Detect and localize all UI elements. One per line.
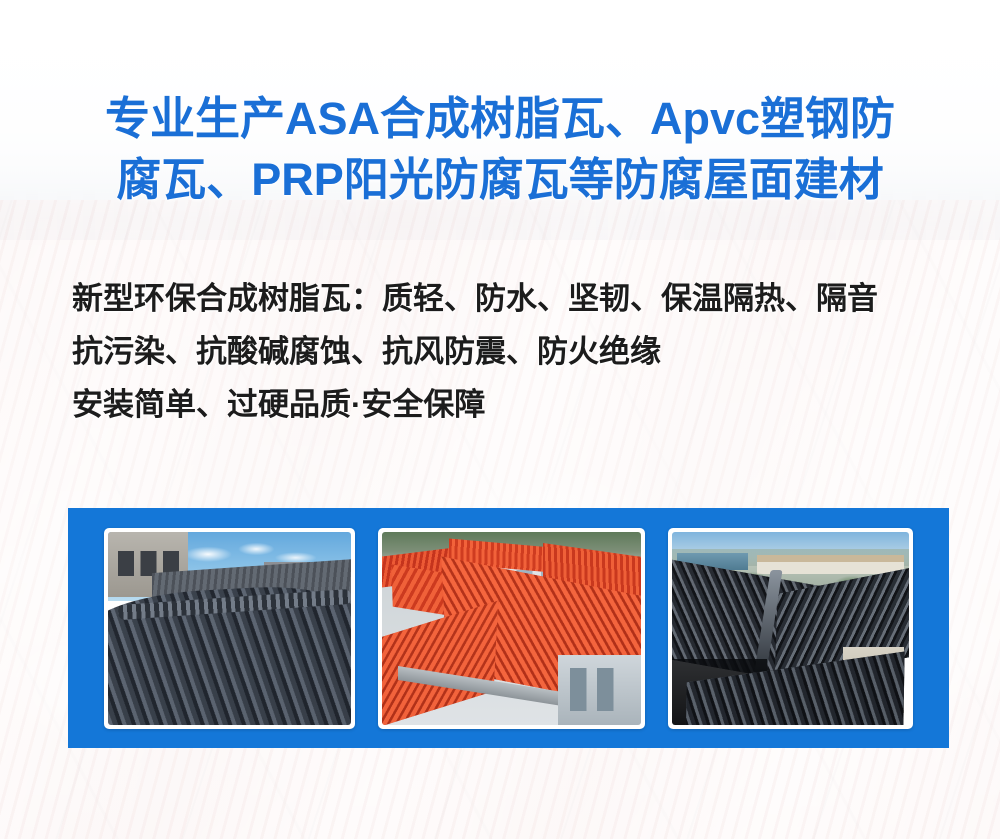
product-photo-grey-barrel-tile-roof[interactable] [108,532,351,725]
product-photo-red-resin-tile-roof[interactable] [382,532,641,725]
photo-frame-3[interactable] [668,528,913,729]
subtitle-line-2: 抗污染、抗酸碱腐蚀、抗风防震、防火绝缘 [72,325,972,378]
promo-banner-page: 专业生产ASA合成树脂瓦、Apvc塑钢防 腐瓦、PRP阳光防腐瓦等防腐屋面建材 … [0,0,1000,839]
page-title-line-2: 腐瓦、PRP阳光防腐瓦等防腐屋面建材 [0,149,1000,210]
photo2-building-facade [558,655,641,724]
subtitle-line-1: 新型环保合成树脂瓦：质轻、防水、坚韧、保温隔热、隔音 [72,272,972,325]
photo-frame-2[interactable] [378,528,645,729]
photo-gallery-panel [68,508,949,748]
page-title: 专业生产ASA合成树脂瓦、Apvc塑钢防 腐瓦、PRP阳光防腐瓦等防腐屋面建材 [0,88,1000,210]
subtitle-line-3: 安装简单、过硬品质·安全保障 [72,378,972,431]
subtitle-block: 新型环保合成树脂瓦：质轻、防水、坚韧、保温隔热、隔音 抗污染、抗酸碱腐蚀、抗风防… [72,272,972,431]
product-photo-black-resin-tile-roof[interactable] [672,532,909,725]
page-title-line-1: 专业生产ASA合成树脂瓦、Apvc塑钢防 [0,88,1000,149]
photo-frame-1[interactable] [104,528,355,729]
